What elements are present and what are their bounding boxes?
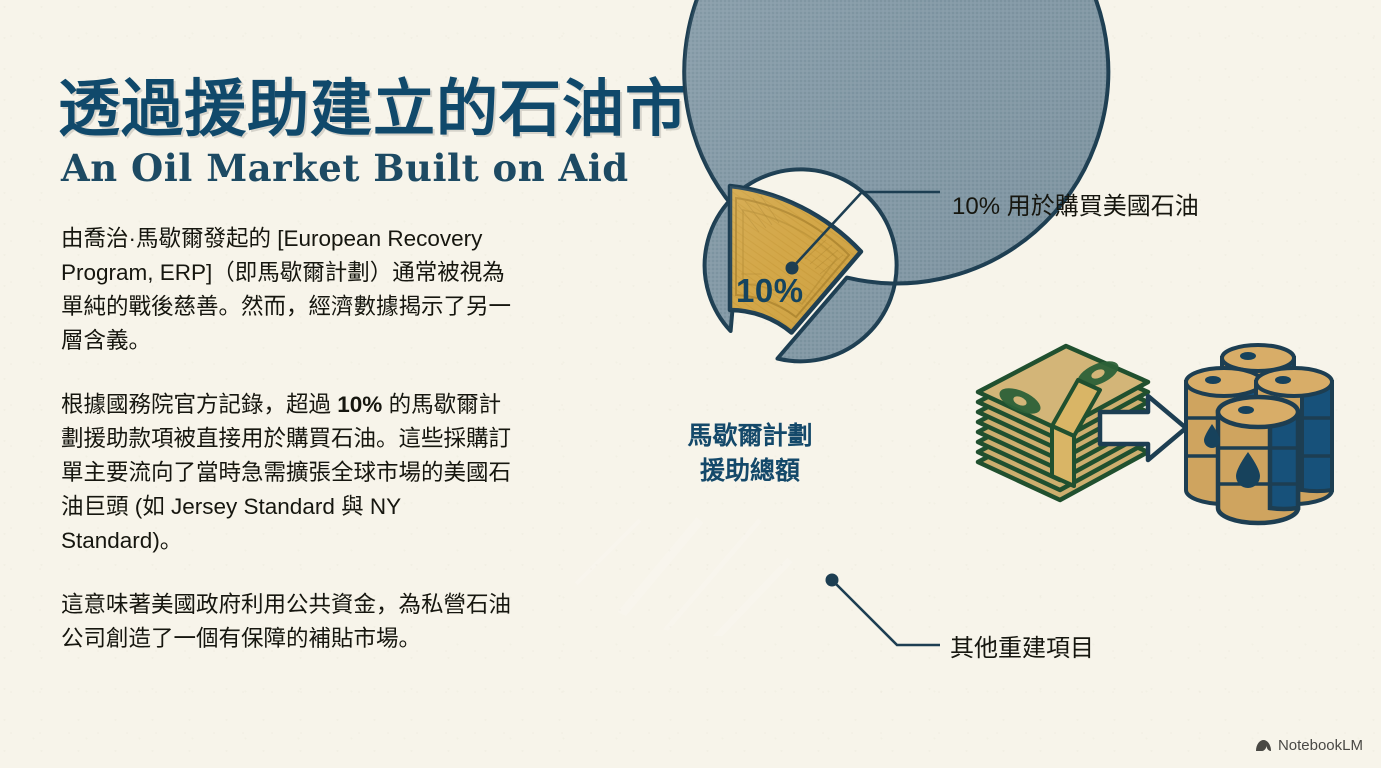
notebooklm-watermark: NotebookLM (1255, 737, 1363, 754)
body-text-block: 由喬治·馬歇爾發起的 [European Recovery Program, E… (61, 222, 513, 686)
pie-center-label-line2: 援助總額 (640, 453, 860, 488)
paragraph-2-text-a: 根據國務院官方記錄，超過 (61, 392, 337, 417)
body-paragraph-3: 這意味著美國政府利用公共資金，為私營石油公司創造了一個有保障的補貼市場。 (61, 588, 513, 656)
money-stack-icon (978, 346, 1148, 500)
slice-texture-streaks (560, 520, 790, 665)
callout-label-other-projects: 其他重建項目 (950, 628, 1094, 663)
notebooklm-watermark-label: NotebookLM (1278, 737, 1363, 754)
callout-anchor-dot-bottom (826, 574, 839, 587)
pie-center-label-line1: 馬歇爾計劃 (640, 418, 860, 453)
page-title: 透過援助建立的石油市場 (58, 58, 751, 148)
callout-line-bottom (832, 580, 940, 645)
slice-engraving-lines (738, 196, 843, 284)
right-arrow-icon (1100, 396, 1186, 460)
paragraph-3-text: 這意味著美國政府利用公共資金，為私營石油公司創造了一個有保障的補貼市場。 (61, 592, 511, 651)
body-paragraph-1: 由喬治·馬歇爾發起的 [European Recovery Program, E… (61, 222, 513, 358)
body-paragraph-2: 根據國務院官方記錄，超過 10% 的馬歇爾計劃援助款項被直接用於購買石油。這些採… (61, 388, 513, 558)
pie-slice-value-label: 10% (736, 272, 804, 310)
paragraph-1-text: 由喬治·馬歇爾發起的 [European Recovery Program, E… (61, 226, 511, 353)
pie-slice-oil-purchase[interactable] (730, 186, 861, 333)
oil-barrels-icon (1186, 345, 1332, 523)
barrel-front (1218, 397, 1298, 523)
barrel-back (1222, 345, 1294, 465)
pie-center-label: 馬歇爾計劃 援助總額 (640, 418, 860, 488)
notebooklm-logo-icon (1255, 739, 1272, 753)
callout-line-top (792, 192, 940, 268)
paragraph-2-highlight: 10% (337, 392, 382, 417)
callout-label-oil-purchase: 10% 用於購買美國石油 (952, 186, 1199, 221)
barrel-left (1186, 368, 1262, 504)
page-subtitle: An Oil Market Built on Aid (61, 146, 629, 190)
barrel-right (1256, 368, 1332, 504)
